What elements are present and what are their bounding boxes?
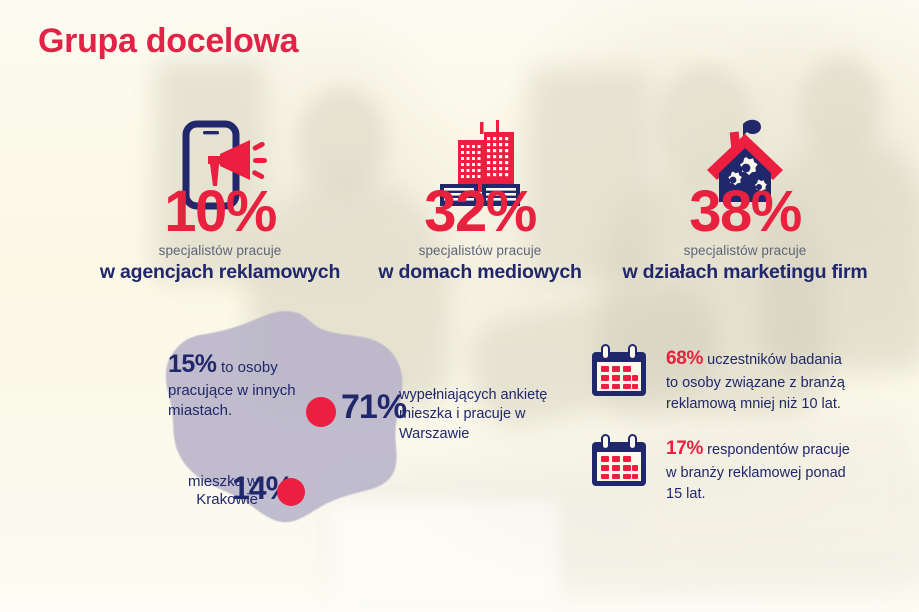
experience-row-under-10-years: 68% uczestników badania to osoby związan…	[588, 340, 916, 414]
experience-line1: respondentów pracuje	[707, 442, 850, 458]
other-cities-percent: 15%	[168, 350, 217, 378]
experience-line2: w branży reklamowej ponad	[666, 465, 846, 481]
warsaw-text: wypełniających ankietę mieszka i pracuje…	[399, 386, 579, 444]
stat-caption: specjalistów pracuje	[580, 243, 910, 258]
experience-text: 17% respondentów pracuje w branży reklam…	[666, 430, 916, 504]
stat-label: w agencjach reklamowych	[60, 261, 380, 284]
warsaw-line3: Warszawie	[399, 426, 469, 442]
other-cities-line2: pracujące w innych	[168, 382, 296, 399]
warsaw-percent: 71%	[341, 388, 406, 427]
city-marker-dot-krakow	[277, 478, 305, 506]
other-cities-line1: to osoby	[221, 359, 278, 376]
city-marker-dot-warsaw	[306, 397, 336, 427]
experience-line2: to osoby związane z branżą	[666, 375, 845, 391]
page-title: Grupa docelowa	[38, 22, 298, 61]
experience-percent: 68%	[666, 348, 703, 369]
infographic-canvas: Grupa docelowa 10% specjalistów pracuje …	[0, 0, 919, 612]
stat-percent: 38%	[580, 188, 910, 236]
warsaw-line1: wypełniających ankietę	[399, 387, 547, 403]
stat-percent: 10%	[60, 188, 380, 236]
stat-label: w działach marketingu firm	[580, 261, 910, 284]
stat-percent: 32%	[340, 188, 620, 236]
experience-line1: uczestników badania	[707, 352, 842, 368]
stat-caption: specjalistów pracuje	[340, 243, 620, 258]
stat-block-marketing-departments: 38% specjalistów pracuje w działach mark…	[580, 118, 910, 284]
stat-label: w domach mediowych	[340, 261, 620, 284]
other-cities-line3: miastach.	[168, 402, 232, 419]
experience-row-over-15-years: 17% respondentów pracuje w branży reklam…	[588, 430, 916, 504]
experience-line3: reklamową mniej niż 10 lat.	[666, 396, 841, 412]
experience-percent: 17%	[666, 438, 703, 459]
experience-text: 68% uczestników badania to osoby związan…	[666, 340, 916, 414]
calendar-icon	[588, 430, 650, 492]
experience-line3: 15 lat.	[666, 486, 706, 502]
stat-block-media-houses: 32% specjalistów pracuje w domach mediow…	[340, 118, 620, 284]
stat-block-agencies: 10% specjalistów pracuje w agencjach rek…	[60, 118, 380, 284]
warsaw-line2: mieszka i pracuje w	[399, 406, 526, 422]
stat-caption: specjalistów pracuje	[60, 243, 380, 258]
calendar-icon	[588, 340, 650, 402]
